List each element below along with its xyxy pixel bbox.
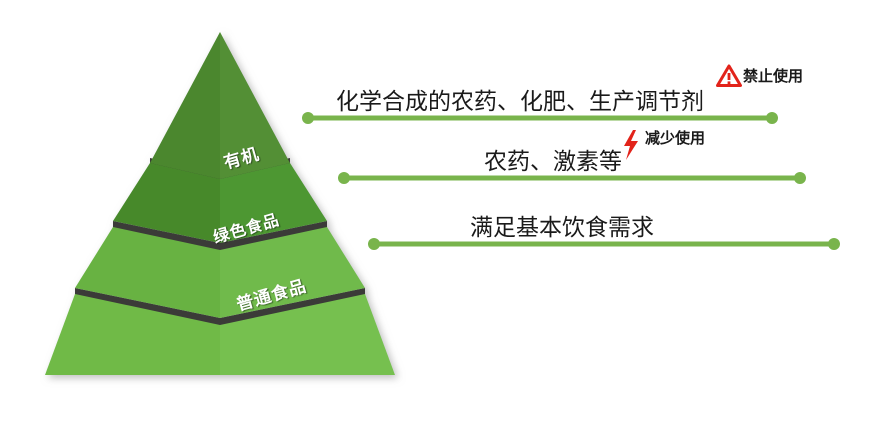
callout-note-prohibited: 禁止使用 [743, 69, 803, 84]
callout-text-green-food: 农药、激素等 [484, 150, 622, 173]
warning-triangle-icon [716, 64, 742, 93]
connector-dot-left [302, 112, 314, 124]
connector-dot-right [828, 238, 840, 250]
connector-dot-right [766, 112, 778, 124]
tier-face-left [150, 32, 220, 179]
diagram-canvas: 有机 绿色食品 普通食品 化学合成的农药、化肥、生产调节剂 禁止使用 农药、激素… [0, 0, 895, 440]
callout-row-green-food: 农药、激素等 减少使用 [336, 126, 808, 186]
tier-face-right [220, 32, 290, 179]
callout-text-ordinary-food: 满足基本饮食需求 [470, 216, 654, 239]
callout-row-ordinary-food: 满足基本饮食需求 [366, 196, 846, 252]
lightning-bolt-icon [621, 129, 641, 166]
connector-dot-right [794, 172, 806, 184]
pyramid-tier-top [150, 32, 290, 179]
callout-row-organic: 化学合成的农药、化肥、生产调节剂 禁止使用 [300, 64, 830, 126]
connector-dot-left [368, 238, 380, 250]
callout-text-organic: 化学合成的农药、化肥、生产调节剂 [336, 90, 704, 113]
connector-dot-left [338, 172, 350, 184]
callout-note-reduce: 减少使用 [645, 131, 705, 146]
